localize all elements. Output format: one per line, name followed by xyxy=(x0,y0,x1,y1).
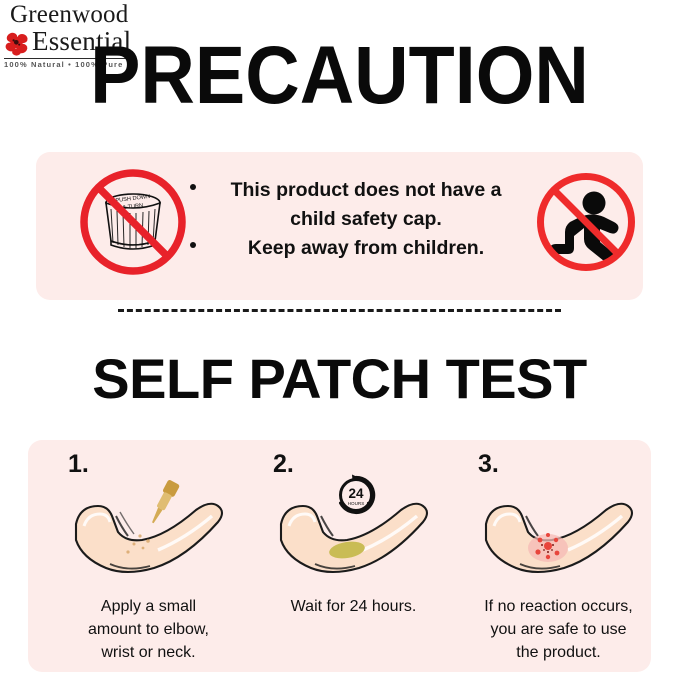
precaution-bullet-1: This product does not have a child safet… xyxy=(186,176,526,234)
elbow-with-reaction-spots-icon xyxy=(456,472,661,582)
elbow-with-24-hours-icon: 24 HOURS xyxy=(251,472,456,582)
section-divider xyxy=(118,309,561,312)
step-caption: Apply a small amount to elbow, wrist or … xyxy=(52,595,245,664)
list-item: Keep away from children. xyxy=(186,234,526,263)
svg-text:24: 24 xyxy=(348,486,364,501)
step-caption: If no reaction occurs, you are safe to u… xyxy=(462,595,655,664)
flower-icon xyxy=(4,30,30,56)
list-item: This product does not have a child safet… xyxy=(186,176,526,234)
patch-test-step-2: 2. 24 HOURS Wait for 24 hours. xyxy=(251,440,456,672)
step-caption: Wait for 24 hours. xyxy=(257,595,450,618)
elbow-with-dropper-icon xyxy=(46,472,251,582)
svg-text:HOURS: HOURS xyxy=(348,501,365,506)
patch-test-step-3: 3. If no reaction occurs, you are safe t… xyxy=(456,440,661,672)
brand-name-line1: Greenwood xyxy=(10,2,128,27)
bullet-dot-icon xyxy=(190,242,196,248)
precaution-bullet-list: This product does not have a child safet… xyxy=(186,176,526,263)
no-child-safety-cap-icon: PUSH DOWN & TURN xyxy=(78,167,188,277)
bullet-dot-icon xyxy=(190,184,196,190)
patch-test-step-1: 1. Apply a small amount to elbow, wrist … xyxy=(46,440,251,672)
self-patch-test-heading: SELF PATCH TEST xyxy=(0,348,679,410)
no-children-icon xyxy=(534,170,638,274)
precaution-bullet-2: Keep away from children. xyxy=(186,234,526,263)
precaution-heading: PRECAUTION xyxy=(27,34,652,118)
